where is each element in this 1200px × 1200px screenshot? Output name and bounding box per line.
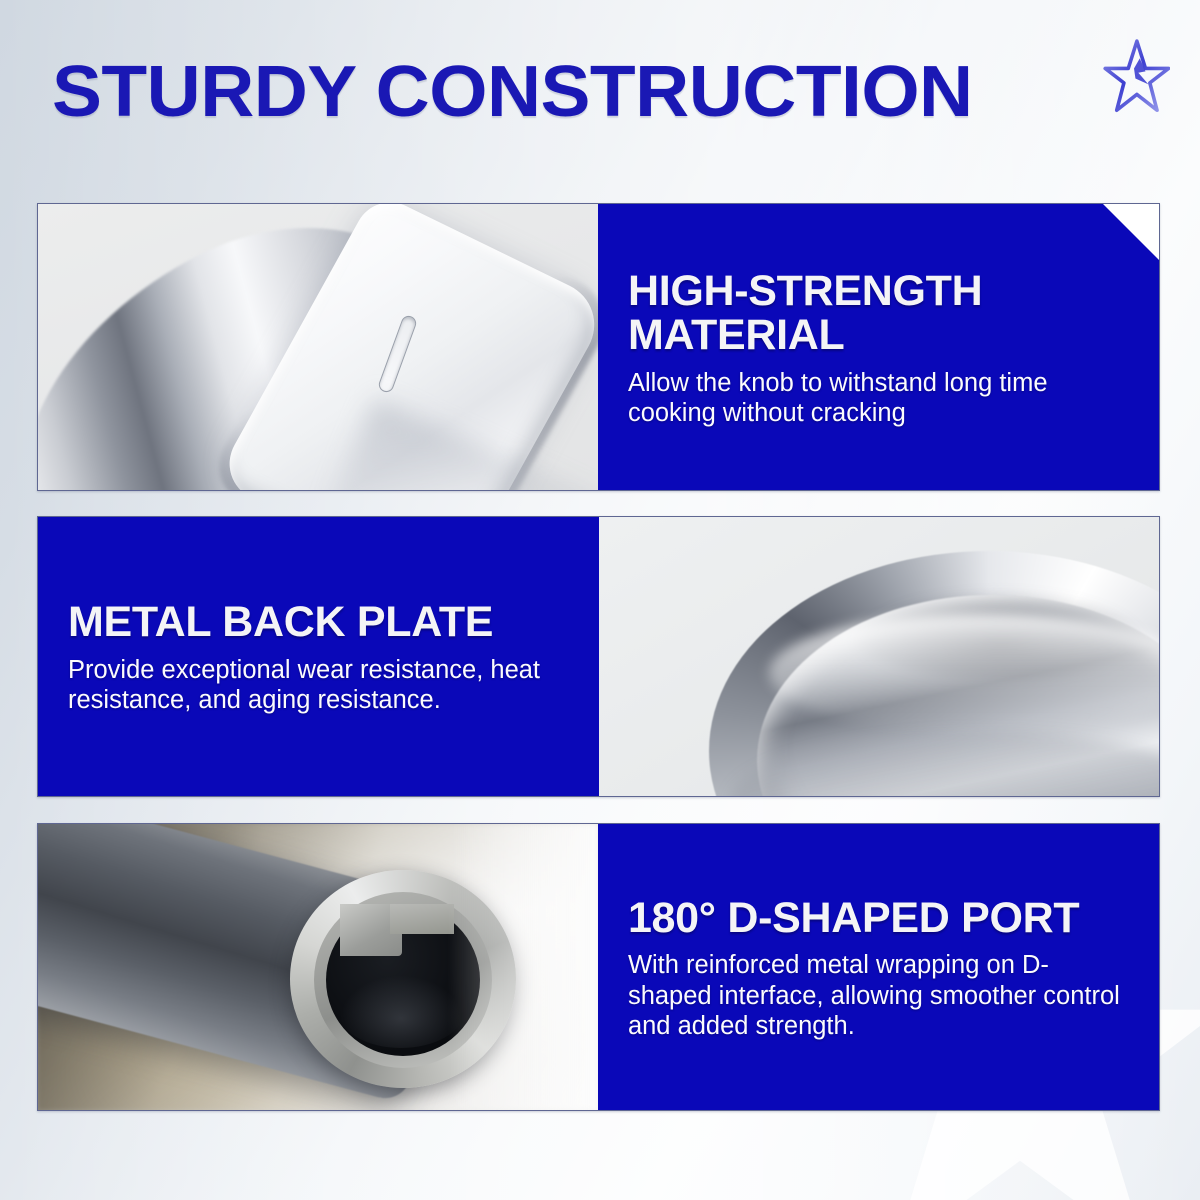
feature-description-3: With reinforced metal wrapping on D-shap…	[628, 950, 1129, 1041]
feature-title-1: HIGH-STRENGTH MATERIAL	[628, 270, 1129, 358]
header: STURDY CONSTRUCTION	[0, 0, 1200, 190]
port-interior-texture	[338, 974, 464, 1048]
star-icon	[1098, 36, 1170, 124]
feature-image-d-shaped-port	[38, 824, 598, 1110]
port-background-right-blur	[448, 824, 598, 1110]
feature-image-metal-back-plate	[599, 517, 1159, 796]
feature-row-2: METAL BACK PLATE Provide exceptional wea…	[37, 516, 1160, 797]
feature-text-panel-3: 180° D-SHAPED PORT With reinforced metal…	[598, 824, 1159, 1110]
feature-text-panel-2: METAL BACK PLATE Provide exceptional wea…	[38, 517, 599, 796]
infographic-canvas: STURDY CONSTRUCTION HIGH-STRENGTH MATERI…	[0, 0, 1200, 1200]
page-title: STURDY CONSTRUCTION	[52, 56, 973, 128]
feature-title-3: 180° D-SHAPED PORT	[628, 897, 1129, 941]
feature-title-2: METAL BACK PLATE	[68, 601, 569, 645]
feature-text-panel-1: HIGH-STRENGTH MATERIAL Allow the knob to…	[598, 204, 1159, 490]
feature-description-1: Allow the knob to withstand long time co…	[628, 368, 1129, 429]
feature-image-high-strength-material	[38, 204, 598, 490]
feature-row-3: 180° D-SHAPED PORT With reinforced metal…	[37, 823, 1160, 1111]
feature-description-2: Provide exceptional wear resistance, hea…	[68, 655, 569, 716]
d-shaped-flat-edge-2	[390, 904, 454, 934]
feature-row-1: HIGH-STRENGTH MATERIAL Allow the knob to…	[37, 203, 1160, 491]
